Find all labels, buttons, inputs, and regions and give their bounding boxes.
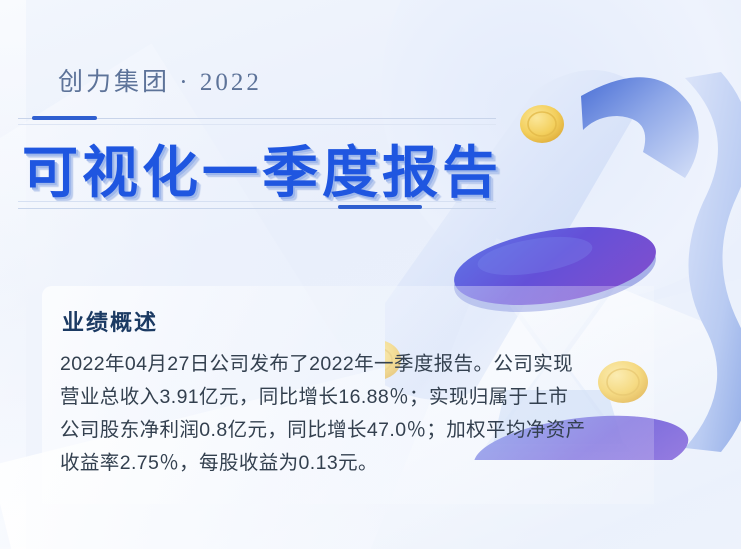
coin-top-icon xyxy=(520,105,564,232)
divider-bottom-secondary xyxy=(18,208,496,209)
summary-line: 2022年04月27日公司发布了2022年一季度报告。公司实现 xyxy=(60,348,640,381)
report-cover-poster: 创力集团 · 2022 可视化一季度报告 业绩概述 2022年04月27日公司发… xyxy=(0,0,741,549)
summary-line: 公司股东净利润0.8亿元，同比增长47.0％；加权平均净资产 xyxy=(60,414,640,447)
divider-top-accent xyxy=(32,116,97,120)
summary-body: 2022年04月27日公司发布了2022年一季度报告。公司实现 营业总收入3.9… xyxy=(60,348,640,480)
divider-bottom-accent xyxy=(338,205,422,209)
summary-heading: 业绩概述 xyxy=(62,305,158,337)
divider-top-secondary xyxy=(18,124,496,125)
divider-bottom xyxy=(18,201,496,202)
summary-line: 营业总收入3.91亿元，同比增长16.88％；实现归属于上市 xyxy=(60,381,640,414)
brand-kicker: 创力集团 · 2022 xyxy=(58,62,262,98)
summary-line: 收益率2.75％，每股收益为0.13元。 xyxy=(60,447,640,480)
page-title: 可视化一季度报告 xyxy=(22,128,502,209)
background-left-stripe xyxy=(0,0,26,549)
